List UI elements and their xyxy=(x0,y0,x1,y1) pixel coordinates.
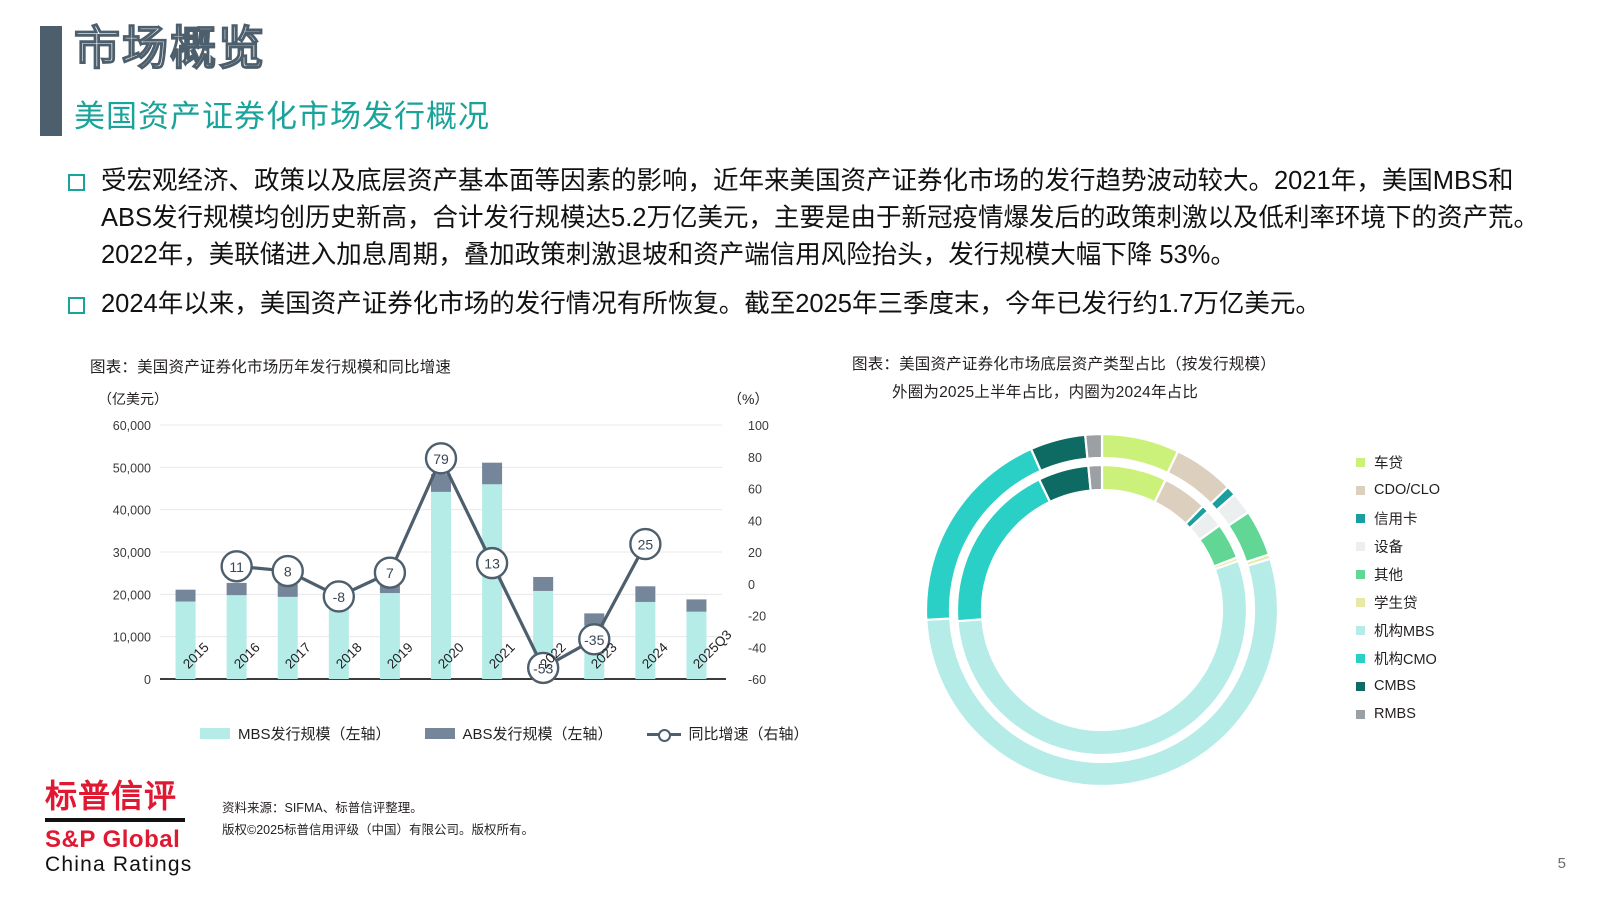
legend-item-9: CMBS xyxy=(1356,672,1440,700)
bullet-square-icon xyxy=(68,174,85,191)
legend-item-4: 设备 xyxy=(1356,532,1440,560)
left-chart-legend: MBS发行规模（左轴） ABS发行规模（左轴） 同比增速（右轴） xyxy=(200,723,809,744)
slide: 市场概览 美国资产证券化市场发行概况 受宏观经济、政策以及底层资产基本面等因素的… xyxy=(0,0,1600,900)
legend-swatch xyxy=(1356,710,1365,719)
donut-segment xyxy=(1085,434,1102,459)
legend-item-abs: ABS发行规模（左轴） xyxy=(425,723,613,744)
svg-text:100: 100 xyxy=(748,419,769,433)
bullet-text: 受宏观经济、政策以及底层资产基本面等因素的影响，近年来美国资产证券化市场的发行趋… xyxy=(101,163,1548,274)
logo: 标普信评 S&P Global China Ratings xyxy=(45,780,235,877)
svg-text:20: 20 xyxy=(748,546,762,560)
svg-text:20,000: 20,000 xyxy=(113,588,151,602)
svg-text:60: 60 xyxy=(748,483,762,497)
legend-label: 机构CMO xyxy=(1374,648,1437,669)
legend-swatch-mbs xyxy=(200,728,230,739)
donut-segment xyxy=(1088,465,1102,491)
svg-text:8: 8 xyxy=(284,564,292,580)
svg-text:25: 25 xyxy=(638,537,654,553)
source-note: 资料来源：SIFMA、标普信评整理。 版权©2025标普信用评级（中国）有限公司… xyxy=(222,798,534,842)
issuance-bar-chart: 图表：美国资产证券化市场历年发行规模和同比增速 （亿美元） （%） 010,00… xyxy=(90,355,790,775)
legend-label: 车贷 xyxy=(1374,452,1403,473)
list-item: 2024年以来，美国资产证券化市场的发行情况有所恢复。截至2025年三季度末，今… xyxy=(68,286,1548,323)
svg-text:11: 11 xyxy=(229,559,244,575)
bullet-text: 2024年以来，美国资产证券化市场的发行情况有所恢复。截至2025年三季度末，今… xyxy=(101,286,1321,323)
donut-segment xyxy=(1102,465,1166,502)
legend-swatch xyxy=(1356,458,1365,467)
legend-swatch xyxy=(1356,682,1365,691)
left-axis-unit: （亿美元） xyxy=(98,389,168,409)
svg-text:80: 80 xyxy=(748,451,762,465)
svg-text:60,000: 60,000 xyxy=(113,419,151,433)
left-chart-caption: 图表：美国资产证券化市场历年发行规模和同比增速 xyxy=(90,355,451,377)
legend-item-mbs: MBS发行规模（左轴） xyxy=(200,723,391,744)
header-accent-bar xyxy=(40,26,62,136)
legend-item-growth: 同比增速（右轴） xyxy=(647,723,809,744)
legend-label: CMBS xyxy=(1374,678,1416,694)
legend-swatch-abs xyxy=(425,728,455,739)
svg-text:0: 0 xyxy=(748,578,755,592)
legend-label: RMBS xyxy=(1374,706,1416,722)
legend-item-7: 机构MBS xyxy=(1356,616,1440,644)
x-axis-labels: 2015201620172018201920202021202220232024… xyxy=(90,655,790,715)
copyright-line: 版权©2025标普信用评级（中国）有限公司。版权所有。 xyxy=(222,820,534,842)
legend-swatch xyxy=(1356,598,1365,607)
logo-english-sub: China Ratings xyxy=(45,852,235,877)
logo-english: S&P Global xyxy=(45,827,235,852)
svg-text:50,000: 50,000 xyxy=(113,461,151,475)
asset-type-donut-chart: 图表：美国资产证券化市场底层资产类型占比（按发行规模） 外圈为2025上半年占比… xyxy=(840,352,1560,782)
list-item: 受宏观经济、政策以及底层资产基本面等因素的影响，近年来美国资产证券化市场的发行趋… xyxy=(68,163,1548,274)
legend-label-mbs: MBS发行规模（左轴） xyxy=(238,723,391,744)
legend-swatch xyxy=(1356,486,1365,495)
legend-label: 信用卡 xyxy=(1374,508,1418,529)
svg-text:-8: -8 xyxy=(333,589,346,605)
svg-text:-40: -40 xyxy=(748,641,766,655)
legend-item-10: RMBS xyxy=(1356,700,1440,728)
legend-swatch xyxy=(1356,570,1365,579)
bullet-list: 受宏观经济、政策以及底层资产基本面等因素的影响，近年来美国资产证券化市场的发行趋… xyxy=(68,163,1548,335)
svg-text:40: 40 xyxy=(748,514,762,528)
page-title: 市场概览 xyxy=(74,25,266,71)
logo-chinese: 标普信评 xyxy=(45,780,235,812)
donut-legend: 车贷CDO/CLO信用卡设备其他学生贷机构MBS机构CMOCMBSRMBS xyxy=(1356,448,1440,728)
legend-label: 学生贷 xyxy=(1374,592,1418,613)
svg-text:-35: -35 xyxy=(584,632,604,648)
legend-item-1: 车贷 xyxy=(1356,448,1440,476)
legend-label: 设备 xyxy=(1374,536,1403,557)
donut-segment xyxy=(1031,435,1087,471)
legend-item-6: 学生贷 xyxy=(1356,588,1440,616)
logo-divider xyxy=(45,818,185,822)
svg-text:10,000: 10,000 xyxy=(113,631,151,645)
right-chart-caption: 图表：美国资产证券化市场底层资产类型占比（按发行规模） xyxy=(852,352,1276,374)
svg-text:30,000: 30,000 xyxy=(113,546,151,560)
legend-swatch xyxy=(1356,514,1365,523)
svg-text:79: 79 xyxy=(433,451,449,467)
legend-item-8: 机构CMO xyxy=(1356,644,1440,672)
bullet-square-icon xyxy=(68,297,85,314)
page-subtitle: 美国资产证券化市场发行概况 xyxy=(74,98,490,135)
legend-item-3: 信用卡 xyxy=(1356,504,1440,532)
page-number: 5 xyxy=(1558,855,1566,872)
svg-text:-20: -20 xyxy=(748,610,766,624)
right-axis-unit: （%） xyxy=(728,389,768,409)
legend-item-2: CDO/CLO xyxy=(1356,476,1440,504)
legend-marker-line-icon xyxy=(647,728,681,740)
legend-item-5: 其他 xyxy=(1356,560,1440,588)
donut-svg xyxy=(902,410,1322,810)
donut-segment xyxy=(1039,466,1091,502)
legend-swatch xyxy=(1356,626,1365,635)
legend-swatch xyxy=(1356,542,1365,551)
source-line: 资料来源：SIFMA、标普信评整理。 xyxy=(222,798,534,820)
legend-label-growth: 同比增速（右轴） xyxy=(689,723,809,744)
right-chart-subcaption: 外圈为2025上半年占比，内圈为2024年占比 xyxy=(892,380,1198,402)
legend-label: CDO/CLO xyxy=(1374,482,1440,498)
legend-swatch xyxy=(1356,654,1365,663)
legend-label-abs: ABS发行规模（左轴） xyxy=(463,723,613,744)
svg-text:13: 13 xyxy=(484,556,500,572)
legend-label: 机构MBS xyxy=(1374,620,1434,641)
svg-text:40,000: 40,000 xyxy=(113,504,151,518)
svg-text:7: 7 xyxy=(386,565,394,581)
legend-label: 其他 xyxy=(1374,564,1403,585)
